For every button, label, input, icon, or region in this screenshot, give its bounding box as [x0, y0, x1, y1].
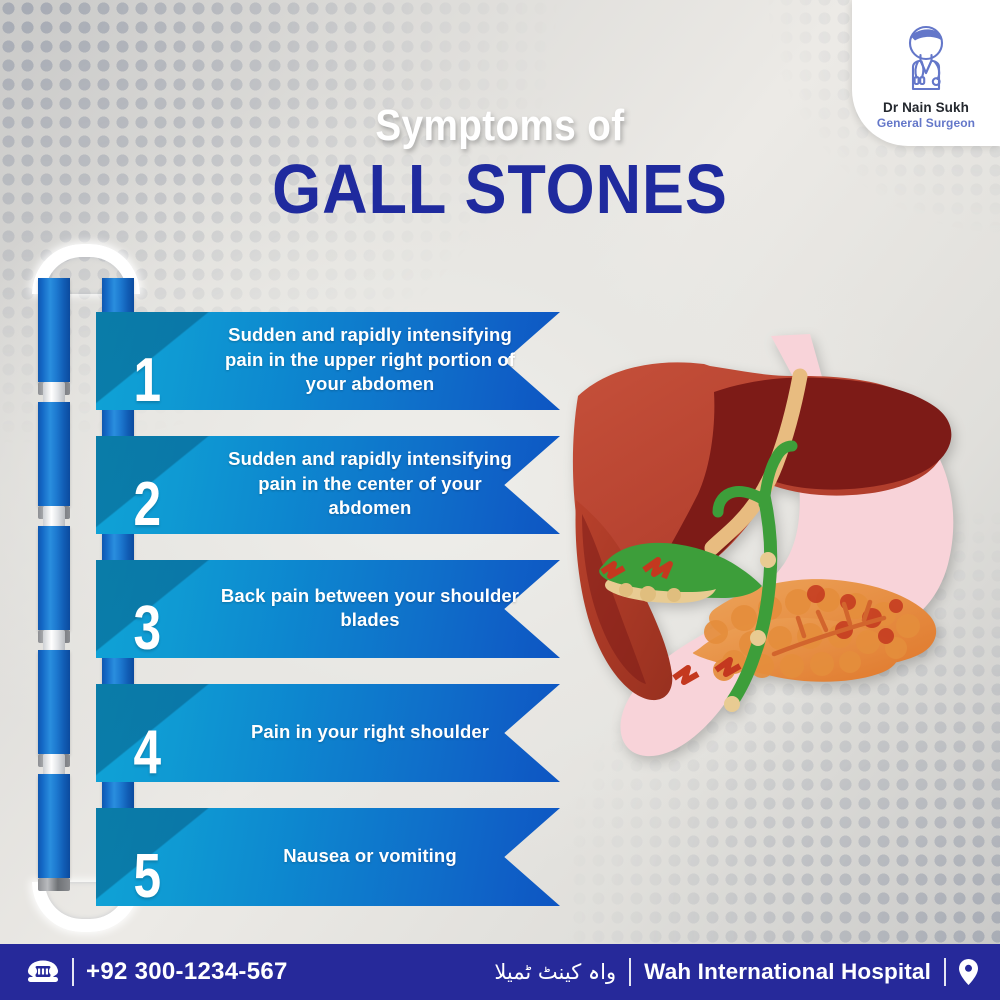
footer-divider-left — [72, 958, 74, 986]
symptom-ribbon-3[interactable]: 3 Back pain between your shoulder blades — [96, 560, 560, 658]
hospital-name: Wah International Hospital — [644, 959, 931, 985]
symptom-number: 4 — [133, 722, 161, 784]
page-title: GALL STONES — [50, 154, 950, 224]
telephone-icon — [26, 958, 60, 986]
symptom-ribbon-2[interactable]: 2 Sudden and rapidly intensifying pain i… — [96, 436, 560, 534]
symptom-ribbon-5[interactable]: 5 Nausea or vomiting — [96, 808, 560, 906]
map-pin-icon[interactable] — [959, 959, 978, 985]
brand-name: Dr Nain Sukh — [883, 100, 969, 115]
symptom-ribbon-4[interactable]: 4 Pain in your right shoulder — [96, 684, 560, 782]
symptom-text: Pain in your right shoulder — [216, 684, 524, 782]
brand-subtitle: General Surgeon — [877, 116, 975, 130]
page-title-group: Symptoms of GALL STONES — [0, 104, 1000, 224]
address-urdu: واہ کینٹ ٹمیلا — [494, 960, 616, 984]
symptom-number: 1 — [133, 350, 161, 412]
gallbladder-anatomy-illustration — [548, 318, 1000, 818]
doctor-icon — [891, 23, 961, 97]
infographic-poster: Dr Nain Sukh General Surgeon Symptoms of… — [0, 0, 1000, 1000]
symptom-text: Sudden and rapidly intensifying pain in … — [216, 312, 524, 410]
phone-number[interactable]: +92 300-1234-567 — [86, 958, 288, 986]
symptom-ribbon-1[interactable]: 1 Sudden and rapidly intensifying pain i… — [96, 312, 560, 410]
footer-divider-mid — [629, 958, 631, 986]
symptom-number: 3 — [133, 598, 161, 660]
symptom-text: Sudden and rapidly intensifying pain in … — [216, 436, 524, 534]
footer-divider-right — [944, 958, 946, 986]
footer-bar: +92 300-1234-567 واہ کینٹ ٹمیلا Wah Inte… — [0, 944, 1000, 1000]
symptom-text: Back pain between your shoulder blades — [216, 560, 524, 658]
symptom-text: Nausea or vomiting — [216, 808, 524, 906]
footer-contact-group: +92 300-1234-567 — [0, 958, 288, 986]
footer-location-group: واہ کینٹ ٹمیلا Wah International Hospita… — [494, 958, 1000, 986]
brand-logo-badge[interactable]: Dr Nain Sukh General Surgeon — [852, 0, 1000, 146]
symptom-number: 2 — [133, 474, 161, 536]
title-kicker: Symptoms of — [60, 104, 940, 148]
symptom-number: 5 — [133, 846, 161, 908]
